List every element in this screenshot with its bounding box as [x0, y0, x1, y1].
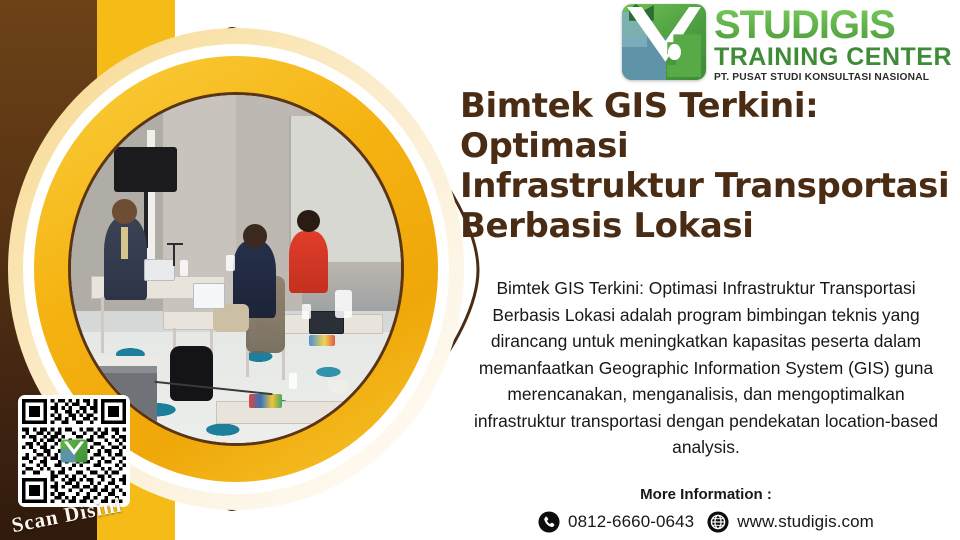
brand-logo: STUDIGIS TRAINING CENTER PT. PUSAT STUDI… — [622, 4, 952, 85]
logo-wordmark: STUDIGIS — [714, 6, 895, 44]
studigis-mark-icon — [61, 440, 88, 463]
headline-line-1: Bimtek GIS Terkini: Optimasi — [460, 86, 952, 166]
ceiling-speaker — [114, 147, 177, 192]
page-title: Bimtek GIS Terkini: Optimasi Infrastrukt… — [460, 86, 952, 246]
headline-line-3: Berbasis Lokasi — [460, 206, 952, 246]
headline-line-2: Infrastruktur Transportasi — [460, 166, 952, 206]
phone-contact[interactable]: 0812-6660-0643 — [538, 511, 694, 533]
promo-poster: Scan Disini STUDIGIS TRAINING CENTER PT.… — [0, 0, 960, 540]
contact-row: 0812-6660-0643 www.studigis.com — [470, 511, 942, 533]
more-information-label: More Information : — [470, 486, 942, 503]
qr-code-icon[interactable] — [18, 395, 130, 507]
map-puzzle-logo-icon — [622, 4, 706, 80]
globe-icon — [707, 511, 729, 533]
phone-number: 0812-6660-0643 — [568, 512, 694, 532]
logo-subtitle: PT. PUSAT STUDI KONSULTASI NASIONAL — [714, 71, 929, 85]
logo-tagline: TRAINING CENTER — [714, 44, 952, 71]
training-session-photo — [71, 95, 401, 443]
website-contact[interactable]: www.studigis.com — [707, 511, 874, 533]
description-paragraph: Bimtek GIS Terkini: Optimasi Infrastrukt… — [470, 275, 942, 460]
attendee-figure — [289, 231, 329, 294]
medallion-photo-frame — [68, 92, 404, 446]
phone-icon — [538, 511, 560, 533]
website-url: www.studigis.com — [737, 512, 874, 532]
